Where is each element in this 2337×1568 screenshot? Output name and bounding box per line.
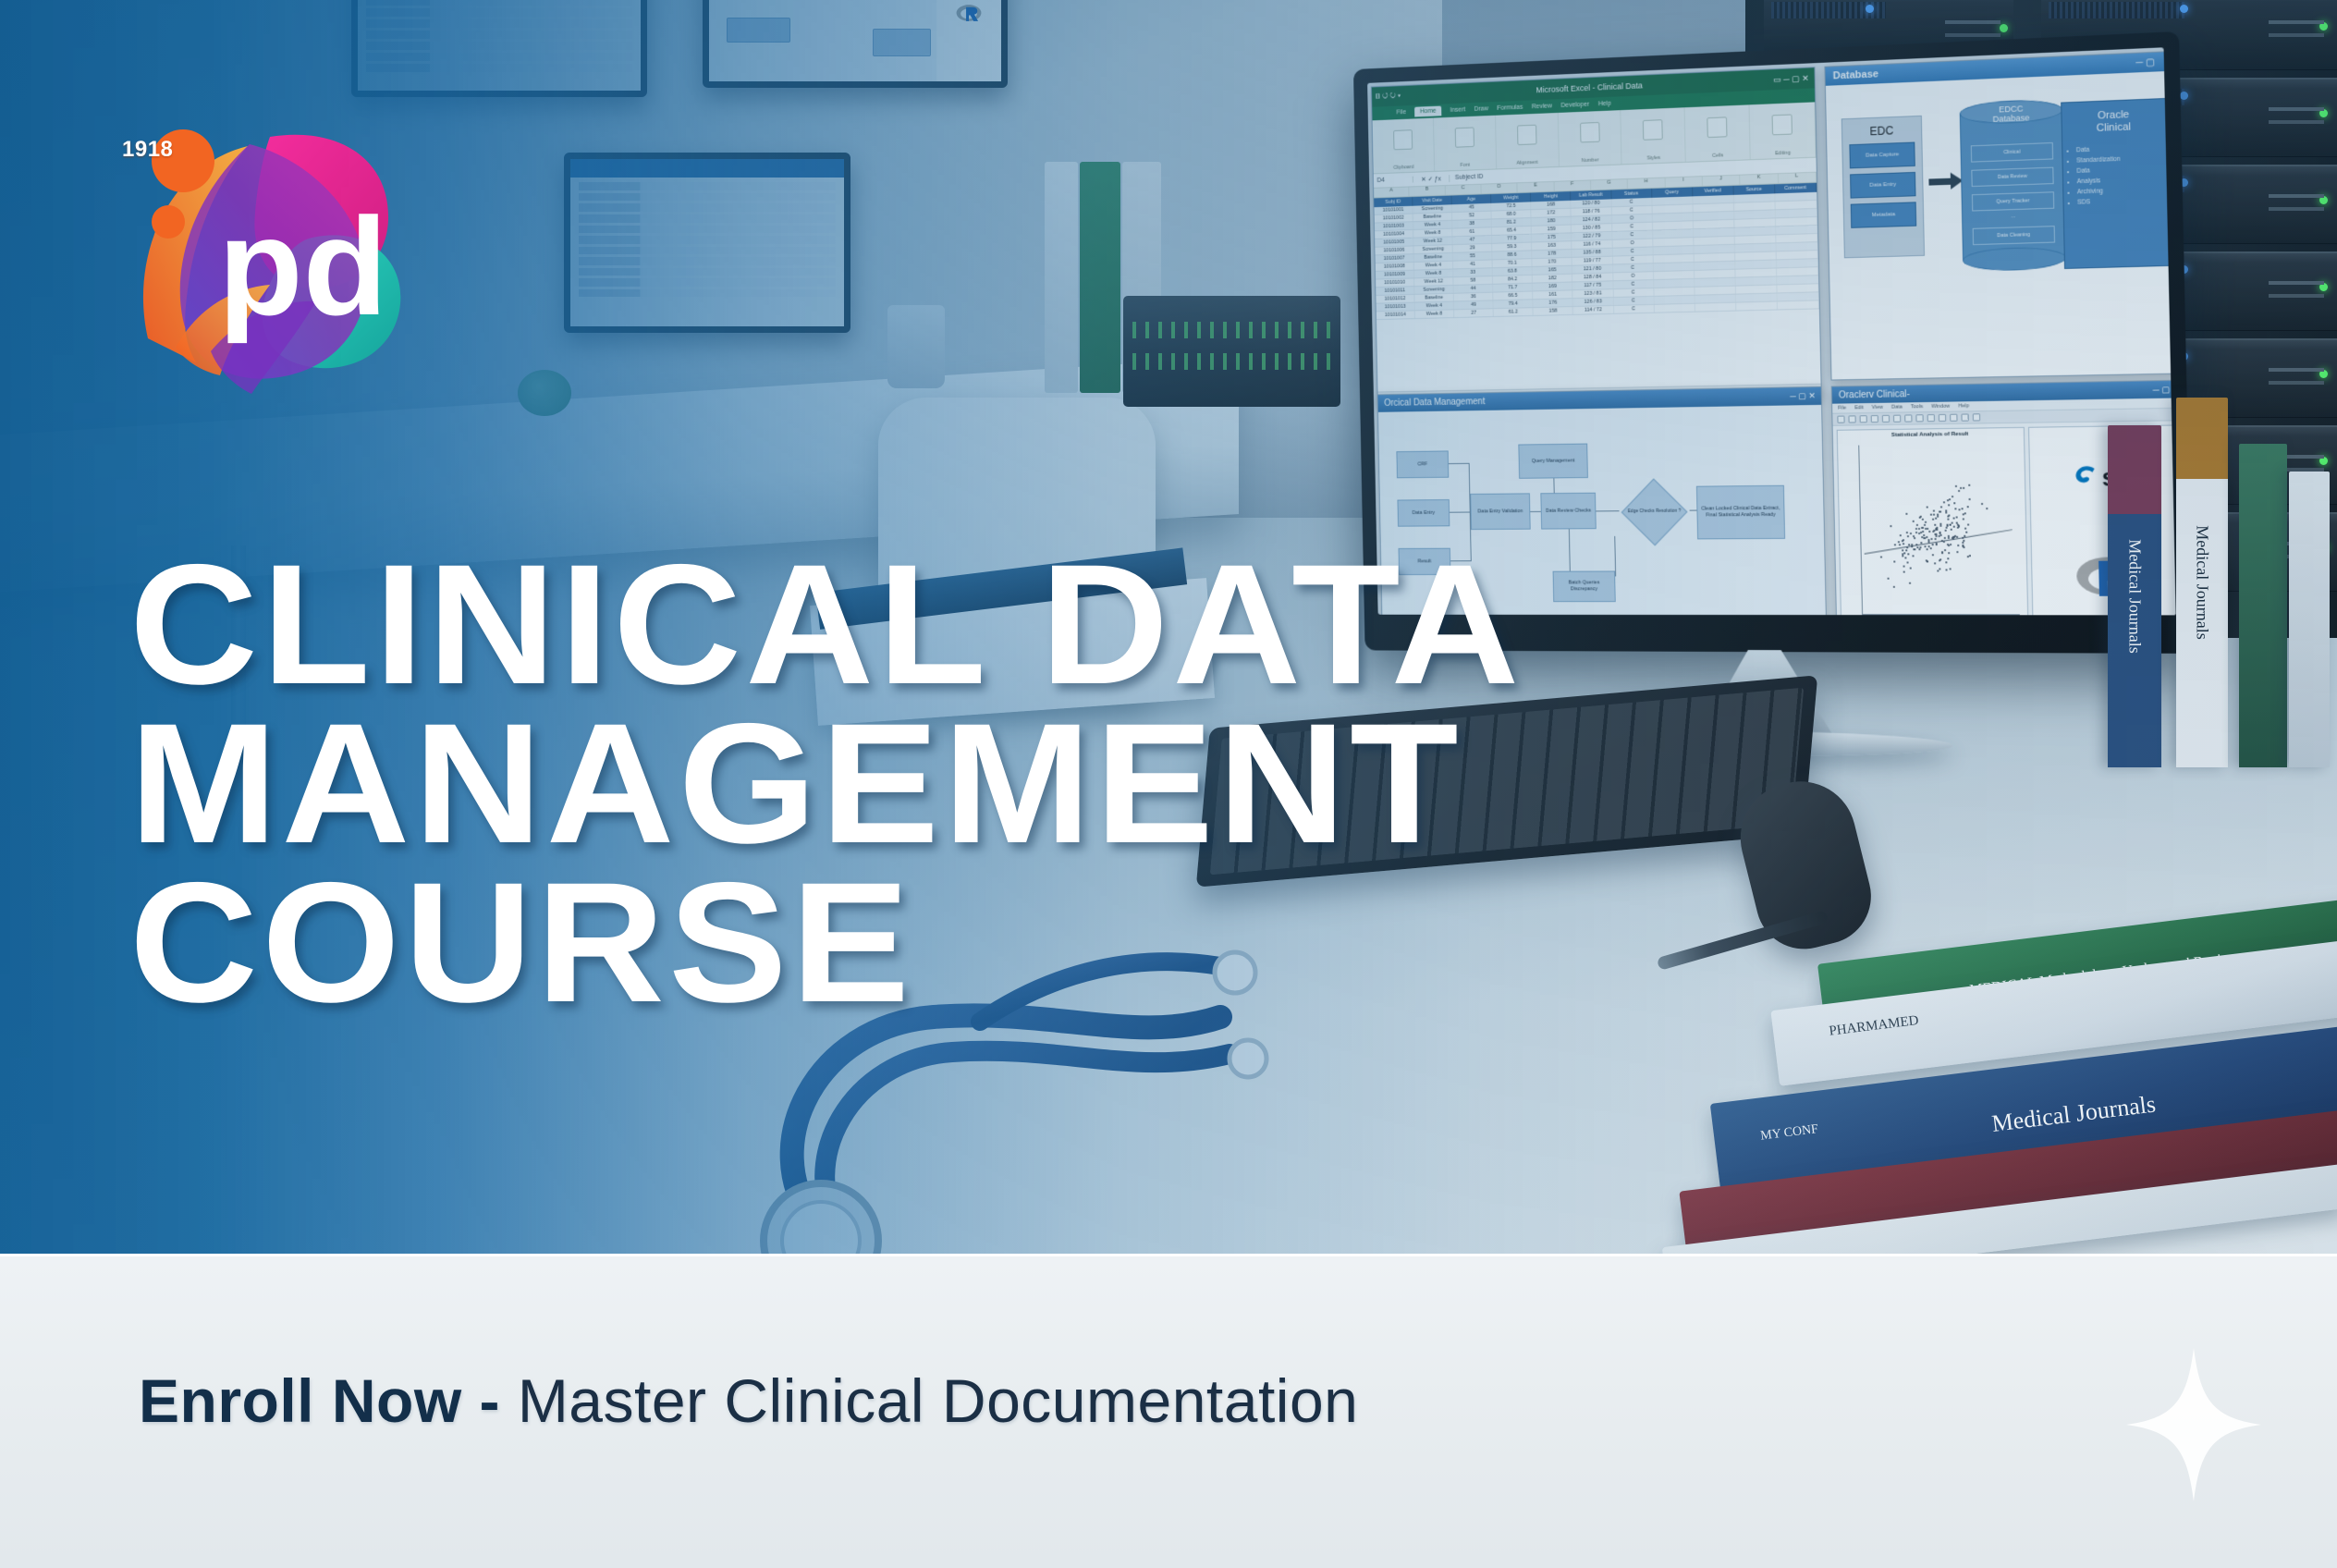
- table-cell[interactable]: C: [1613, 297, 1654, 305]
- scatter-point: [1953, 502, 1955, 504]
- tab-developer[interactable]: Developer: [1560, 102, 1589, 109]
- save-icon[interactable]: [1860, 415, 1867, 423]
- table-cell[interactable]: [1775, 192, 1817, 202]
- scatter-point: [1943, 541, 1945, 543]
- table-cell[interactable]: [1695, 303, 1737, 312]
- scatter-point: [1930, 514, 1932, 516]
- scatter-point: [1952, 496, 1953, 497]
- table-cell[interactable]: C: [1613, 263, 1654, 272]
- table-cell[interactable]: 10101005: [1375, 239, 1413, 247]
- table-cell[interactable]: Week 12: [1413, 237, 1453, 245]
- col-e[interactable]: E: [1518, 182, 1555, 192]
- redo-icon[interactable]: [1915, 414, 1923, 422]
- table-cell[interactable]: Week 12: [1414, 277, 1454, 286]
- table-cell[interactable]: C: [1611, 206, 1652, 214]
- table-cell[interactable]: [1693, 195, 1734, 203]
- scatter-point: [1965, 532, 1967, 533]
- table-cell[interactable]: [1652, 213, 1693, 221]
- scatter-point: [1922, 519, 1924, 521]
- table-cell[interactable]: 116 / 74: [1572, 240, 1613, 249]
- ribbon-group-alignment[interactable]: Alignment: [1496, 113, 1560, 168]
- table-cell[interactable]: [1653, 229, 1694, 238]
- table-cell[interactable]: C: [1613, 288, 1654, 297]
- copy-icon[interactable]: [1882, 415, 1890, 423]
- table-cell[interactable]: Baseline: [1414, 294, 1454, 302]
- scatter-point: [1920, 516, 1922, 518]
- scatter-point: [1944, 537, 1946, 539]
- table-cell[interactable]: [1654, 271, 1695, 279]
- table-cell[interactable]: 10101010: [1376, 278, 1414, 287]
- col-h[interactable]: H: [1628, 178, 1665, 189]
- edc-item: Metadata: [1851, 202, 1916, 228]
- table-cell[interactable]: [1734, 202, 1776, 210]
- table-cell[interactable]: 84.2: [1493, 276, 1533, 284]
- scatter-point: [1987, 508, 1988, 509]
- scatter-point: [1958, 490, 1960, 492]
- zoom-out-icon[interactable]: [1939, 414, 1946, 422]
- table-cell[interactable]: O: [1612, 239, 1653, 247]
- scatter-point: [1925, 521, 1927, 523]
- table-cell[interactable]: [1775, 201, 1817, 210]
- group-label: Cells: [1686, 152, 1750, 160]
- table-cell[interactable]: [1777, 267, 1818, 276]
- undo-icon[interactable]: [1904, 414, 1912, 422]
- table-cell[interactable]: 68.0: [1492, 210, 1532, 218]
- table-cell[interactable]: 52: [1452, 212, 1492, 220]
- table-cell[interactable]: [1695, 262, 1736, 270]
- table-cell[interactable]: 119 / 77: [1572, 257, 1613, 265]
- table-cell[interactable]: Week 8: [1414, 269, 1454, 277]
- table-cell[interactable]: C: [1612, 247, 1653, 255]
- flow-node: Clean Locked Clinical Data Extract, Fina…: [1696, 485, 1785, 540]
- table-cell[interactable]: 128 / 84: [1572, 273, 1613, 281]
- fx-icon[interactable]: ✕ ✓ ƒx: [1413, 175, 1450, 183]
- book-spine: [2239, 444, 2287, 767]
- ribbon-group-number[interactable]: Number: [1558, 110, 1622, 166]
- table-cell[interactable]: [1734, 210, 1776, 218]
- table-cell[interactable]: [1777, 284, 1818, 292]
- table-cell[interactable]: [1776, 234, 1817, 242]
- table-cell[interactable]: [1695, 270, 1736, 278]
- help-icon[interactable]: [1973, 413, 1980, 421]
- scatter-point: [1936, 535, 1938, 537]
- database-window[interactable]: Database ─ ▢ ✕ EDC Data Capture Data Ent…: [1824, 51, 2175, 381]
- table-cell[interactable]: [1694, 245, 1735, 253]
- table-cell[interactable]: 70.1: [1493, 259, 1533, 267]
- table-cell[interactable]: 176: [1534, 299, 1573, 307]
- chart-title: Statistical Analysis of Result: [1838, 431, 2024, 439]
- table-cell[interactable]: C: [1612, 255, 1653, 263]
- scatter-point: [1936, 543, 1938, 545]
- col-c[interactable]: C: [1445, 185, 1481, 195]
- scatter-point: [1949, 524, 1951, 526]
- scatter-point: [1923, 534, 1925, 536]
- table-cell[interactable]: 10101008: [1376, 263, 1414, 271]
- table-cell[interactable]: [1654, 288, 1695, 296]
- table-cell[interactable]: 120 / 80: [1572, 199, 1612, 207]
- table-cell[interactable]: [1653, 238, 1694, 246]
- col-b[interactable]: B: [1410, 186, 1446, 196]
- table-cell[interactable]: [1653, 254, 1694, 263]
- col-k[interactable]: K: [1740, 174, 1778, 184]
- table-cell[interactable]: 71.7: [1493, 284, 1533, 292]
- table-cell[interactable]: 169: [1533, 282, 1572, 290]
- ribbon-group-font[interactable]: Font: [1434, 116, 1497, 171]
- edc-source-box: EDC Data Capture Data Entry Metadata: [1841, 116, 1925, 258]
- paste-icon[interactable]: [1893, 415, 1901, 423]
- scatter-point: [1955, 485, 1957, 487]
- menu-edit[interactable]: Edit: [1854, 405, 1864, 410]
- group-label: Styles: [1622, 154, 1685, 162]
- table-cell[interactable]: 33: [1453, 268, 1493, 276]
- tab-review[interactable]: Review: [1532, 103, 1552, 110]
- table-cell[interactable]: Week 4: [1415, 301, 1455, 310]
- table-cell[interactable]: 29: [1453, 244, 1493, 252]
- table-cell[interactable]: 135 / 88: [1572, 249, 1613, 257]
- scatter-point: [1947, 499, 1949, 501]
- promo-banner: sas: [0, 0, 2337, 1568]
- ribbon-group-clipboard[interactable]: Clipboard: [1373, 118, 1435, 174]
- spreadsheet-rows[interactable]: 10101001Screening4572.5168120 / 80C10101…: [1374, 192, 1818, 320]
- scatter-point: [1945, 509, 1947, 511]
- cta-light: Master Clinical Documentation: [518, 1366, 1359, 1435]
- table-cell[interactable]: [1776, 217, 1817, 226]
- ribbon-group-editing[interactable]: Editing: [1750, 102, 1817, 159]
- cylinder-item: Data Review: [1971, 167, 2053, 187]
- table-cell[interactable]: 123 / 81: [1573, 289, 1614, 298]
- ribbon-group-styles[interactable]: Styles: [1621, 107, 1686, 164]
- font-icon: [1455, 127, 1474, 147]
- table-cell[interactable]: 77.9: [1492, 235, 1532, 243]
- table-cell[interactable]: 41: [1453, 260, 1493, 268]
- table-cell[interactable]: [1734, 193, 1776, 202]
- table-cell[interactable]: [1654, 279, 1695, 288]
- table-cell[interactable]: 36: [1454, 293, 1494, 301]
- table-cell[interactable]: [1694, 253, 1735, 262]
- scatter-point: [1906, 513, 1908, 515]
- scatter-point: [1952, 517, 1954, 519]
- table-cell[interactable]: Week 4: [1413, 221, 1453, 229]
- filter-icon[interactable]: [1961, 413, 1968, 421]
- scatter-point: [1939, 532, 1940, 533]
- menu-view[interactable]: View: [1872, 405, 1883, 410]
- table-cell[interactable]: 45: [1452, 203, 1492, 212]
- excel-window[interactable]: ⌷ ↺ ↻ ▾ Microsoft Excel - Clinical Data …: [1371, 67, 1822, 405]
- table-cell[interactable]: [1654, 304, 1695, 312]
- table-cell[interactable]: [1778, 300, 1819, 309]
- table-cell[interactable]: [1735, 243, 1777, 251]
- table-cell[interactable]: [1653, 246, 1694, 254]
- scatter-point: [1922, 530, 1924, 532]
- table-cell[interactable]: C: [1612, 223, 1653, 231]
- table-cell[interactable]: [1695, 287, 1736, 295]
- table-cell[interactable]: C: [1611, 198, 1652, 206]
- menu-help[interactable]: Help: [1958, 403, 1969, 409]
- table-cell[interactable]: 44: [1454, 285, 1494, 293]
- scatter-point: [1931, 538, 1933, 540]
- table-cell[interactable]: [1736, 285, 1778, 293]
- table-cell[interactable]: [1653, 221, 1694, 229]
- table-cell[interactable]: 10101007: [1375, 254, 1413, 263]
- menu-window[interactable]: Window: [1931, 404, 1950, 410]
- table-cell[interactable]: [1736, 293, 1778, 301]
- table-cell[interactable]: 117 / 75: [1573, 281, 1614, 289]
- table-cell[interactable]: 168: [1531, 201, 1571, 209]
- table-cell[interactable]: [1734, 218, 1776, 227]
- table-cell[interactable]: 58: [1453, 276, 1493, 285]
- sparkle-glyph: [2124, 1346, 2263, 1503]
- table-cell[interactable]: 81.2: [1492, 218, 1532, 227]
- scatter-point: [1957, 527, 1959, 529]
- alignment-icon: [1517, 125, 1536, 145]
- scatter-point: [1957, 525, 1959, 527]
- quick-access-toolbar[interactable]: ⌷ ↺ ↻ ▾: [1377, 92, 1401, 102]
- table-cell[interactable]: C: [1614, 305, 1655, 313]
- table-cell[interactable]: [1735, 251, 1777, 260]
- scatter-point: [1927, 528, 1929, 530]
- table-cell[interactable]: 130 / 85: [1572, 224, 1612, 232]
- table-cell[interactable]: 63.8: [1493, 267, 1533, 276]
- col-f[interactable]: F: [1554, 180, 1591, 190]
- table-cell[interactable]: [1776, 209, 1817, 217]
- col-j[interactable]: J: [1703, 176, 1741, 186]
- col-i[interactable]: I: [1665, 177, 1703, 187]
- scatter-point: [1910, 533, 1912, 534]
- table-cell[interactable]: [1652, 196, 1693, 204]
- table-cell[interactable]: 114 / 72: [1573, 306, 1614, 314]
- table-cell[interactable]: [1654, 296, 1695, 304]
- table-cell[interactable]: Screening: [1414, 286, 1454, 294]
- scatter-point: [1915, 528, 1917, 530]
- table-cell[interactable]: 124 / 82: [1572, 215, 1612, 224]
- tab-formulas[interactable]: Formulas: [1497, 104, 1523, 112]
- table-cell[interactable]: 27: [1454, 309, 1494, 317]
- scatter-point: [1920, 542, 1922, 544]
- database-title-text: Database: [1833, 68, 1879, 81]
- flow-node: Data Entry Validation: [1470, 493, 1530, 530]
- table-cell[interactable]: 122 / 79: [1572, 232, 1612, 240]
- scatter-point: [1924, 523, 1926, 525]
- col-a[interactable]: A: [1374, 187, 1410, 197]
- table-cell[interactable]: [1652, 204, 1693, 213]
- table-cell[interactable]: 61.2: [1494, 308, 1534, 316]
- headline-line-3: COURSE: [129, 864, 2148, 1023]
- table-cell[interactable]: [1693, 212, 1734, 220]
- table-cell[interactable]: [1735, 276, 1777, 285]
- table-cell[interactable]: [1776, 242, 1817, 251]
- pen-cup: [887, 305, 945, 388]
- table-cell[interactable]: O: [1613, 272, 1654, 280]
- tab-help[interactable]: Help: [1598, 101, 1611, 107]
- table-cell[interactable]: 10101003: [1375, 222, 1413, 230]
- table-cell[interactable]: [1735, 268, 1777, 276]
- tab-file[interactable]: File: [1396, 109, 1406, 116]
- window-controls[interactable]: ─ ▢ ✕: [1790, 391, 1816, 402]
- table-cell[interactable]: O: [1612, 214, 1653, 223]
- window-controls[interactable]: ─ ▢ ✕: [2135, 56, 2172, 68]
- table-cell[interactable]: Screening: [1413, 245, 1453, 253]
- formula-value[interactable]: Subject ID: [1450, 174, 1483, 181]
- table-cell[interactable]: 175: [1532, 233, 1572, 241]
- col-l[interactable]: L: [1778, 173, 1816, 183]
- table-cell[interactable]: 172: [1532, 209, 1572, 217]
- sparkle-icon: [2124, 1346, 2263, 1503]
- table-cell[interactable]: [1734, 227, 1776, 235]
- table-cell[interactable]: 158: [1534, 307, 1573, 315]
- table-cell[interactable]: 10101009: [1376, 271, 1414, 279]
- scatter-point: [1946, 524, 1948, 526]
- table-cell[interactable]: 10101013: [1377, 303, 1415, 312]
- wall-monitor-desk-spreadsheet: [564, 153, 850, 333]
- table-cell[interactable]: 10101012: [1376, 295, 1414, 303]
- table-cell[interactable]: 178: [1533, 250, 1572, 258]
- excel-title-text: Microsoft Excel - Clinical Data: [1536, 80, 1643, 94]
- scatter-point: [1955, 508, 1957, 509]
- window-controls[interactable]: ▭ ─ ▢ ✕: [1773, 73, 1809, 85]
- zoom-in-icon[interactable]: [1927, 414, 1935, 422]
- scatter-point: [1967, 506, 1969, 508]
- table-cell[interactable]: 38: [1452, 219, 1492, 227]
- scatter-point: [1948, 505, 1950, 507]
- table-cell[interactable]: 121 / 80: [1572, 264, 1613, 273]
- table-cell[interactable]: 72.5: [1492, 202, 1532, 210]
- odm-title-text: Orcical Data Management: [1384, 397, 1485, 409]
- table-cell[interactable]: 61: [1452, 227, 1492, 236]
- scatter-point: [1915, 532, 1917, 533]
- number-icon: [1580, 122, 1600, 143]
- table-cell[interactable]: 88.6: [1493, 251, 1533, 259]
- tab-insert[interactable]: Insert: [1450, 106, 1466, 114]
- table-cell[interactable]: 170: [1533, 258, 1572, 266]
- table-cell[interactable]: 118 / 76: [1572, 207, 1612, 215]
- table-cell[interactable]: 161: [1533, 290, 1572, 299]
- table-cell[interactable]: [1694, 220, 1735, 228]
- table-cell[interactable]: 10101014: [1377, 311, 1415, 319]
- table-cell[interactable]: 47: [1453, 236, 1493, 244]
- table-cell[interactable]: C: [1613, 280, 1654, 288]
- table-cell[interactable]: 66.5: [1493, 291, 1533, 300]
- scatter-point: [1949, 514, 1951, 516]
- scatter-point: [1959, 508, 1961, 510]
- table-cell[interactable]: 65.4: [1492, 227, 1532, 235]
- oc-title-text: Oraclerv Clinical-: [1839, 389, 1910, 400]
- group-label: Font: [1435, 162, 1496, 169]
- headline-line-1: CLINICAL DATA: [129, 545, 2148, 704]
- table-cell[interactable]: [1695, 295, 1736, 303]
- tab-draw[interactable]: Draw: [1474, 105, 1489, 112]
- table-cell[interactable]: 126 / 83: [1573, 298, 1614, 306]
- table-cell[interactable]: 165: [1533, 266, 1572, 275]
- menu-tools[interactable]: Tools: [1911, 404, 1923, 410]
- table-cell[interactable]: 79.4: [1494, 300, 1534, 308]
- page-title: CLINICAL DATA MANAGEMENT COURSE: [129, 545, 2071, 1023]
- table-cell[interactable]: 59.3: [1492, 242, 1532, 251]
- scatter-point: [1940, 507, 1942, 508]
- r-logo-icon: [956, 3, 982, 22]
- table-cell[interactable]: 10101004: [1375, 230, 1413, 239]
- scatter-point: [1945, 530, 1947, 532]
- scatter-point: [1964, 528, 1966, 530]
- col-g[interactable]: G: [1591, 179, 1628, 190]
- table-cell[interactable]: [1777, 259, 1818, 267]
- cells-icon: [1707, 116, 1728, 138]
- table-cell[interactable]: [1778, 292, 1819, 300]
- print-icon[interactable]: [1871, 415, 1878, 423]
- flow-node: Data Entry: [1397, 499, 1450, 527]
- table-cell[interactable]: 159: [1532, 225, 1572, 233]
- year-badge: 1918: [122, 137, 173, 163]
- table-cell[interactable]: Week 4: [1414, 262, 1454, 270]
- table-cell[interactable]: [1653, 263, 1694, 271]
- scatter-point: [1898, 541, 1900, 543]
- table-cell[interactable]: 55: [1453, 252, 1493, 261]
- group-label: Editing: [1751, 150, 1816, 158]
- scatter-point: [1917, 528, 1919, 530]
- name-box[interactable]: D4: [1374, 177, 1413, 184]
- table-cell[interactable]: [1694, 228, 1735, 237]
- group-label: Clipboard: [1374, 164, 1434, 171]
- ribbon-group-cells[interactable]: Cells: [1685, 104, 1751, 162]
- search-icon: [1772, 114, 1793, 135]
- table-cell[interactable]: [1694, 237, 1735, 245]
- table-cell[interactable]: 49: [1454, 300, 1494, 309]
- table-cell[interactable]: [1695, 278, 1736, 287]
- table-cell[interactable]: C: [1612, 231, 1653, 239]
- table-cell[interactable]: Baseline: [1413, 213, 1453, 221]
- table-cell[interactable]: Week 8: [1415, 310, 1455, 318]
- table-cell[interactable]: [1777, 276, 1818, 284]
- table-cell[interactable]: [1735, 260, 1777, 268]
- table-cell[interactable]: 10101002: [1375, 214, 1413, 222]
- table-cell[interactable]: Baseline: [1414, 253, 1454, 262]
- table-cell[interactable]: [1736, 301, 1778, 310]
- menu-file[interactable]: File: [1838, 405, 1846, 410]
- chart-icon[interactable]: [1950, 414, 1957, 422]
- new-icon[interactable]: [1837, 416, 1844, 423]
- table-cell[interactable]: Screening: [1413, 204, 1453, 213]
- tab-home[interactable]: Home: [1414, 106, 1441, 117]
- table-cell[interactable]: 10101001: [1374, 206, 1413, 214]
- table-cell[interactable]: Week 8: [1413, 229, 1453, 238]
- table-cell[interactable]: [1777, 251, 1818, 259]
- scatter-point: [1934, 524, 1936, 526]
- table-cell[interactable]: 163: [1532, 241, 1572, 250]
- scatter-point: [1939, 534, 1941, 536]
- table-cell[interactable]: 10101011: [1376, 287, 1414, 295]
- scatter-point: [1956, 516, 1958, 518]
- col-d[interactable]: D: [1481, 183, 1517, 193]
- group-label: Number: [1559, 157, 1621, 165]
- table-cell[interactable]: 10101006: [1375, 246, 1413, 254]
- decision-diamond: Edge Checks Resolution ?: [1619, 488, 1690, 536]
- scatter-point: [1906, 532, 1908, 533]
- edcc-database-cylinder: EDCC Database Clinical Data Review Query…: [1959, 98, 2066, 272]
- table-cell[interactable]: [1776, 226, 1817, 234]
- table-cell[interactable]: 180: [1532, 217, 1572, 226]
- scatter-point: [1913, 521, 1915, 522]
- table-cell[interactable]: 182: [1533, 275, 1572, 283]
- table-cell[interactable]: [1734, 235, 1776, 243]
- scatter-point: [1960, 487, 1962, 489]
- scatter-point: [1947, 518, 1949, 520]
- open-icon[interactable]: [1848, 415, 1855, 423]
- table-cell[interactable]: [1693, 203, 1734, 212]
- scatter-point: [1918, 533, 1920, 534]
- desk-plant: [518, 370, 571, 416]
- menu-data[interactable]: Data: [1891, 404, 1903, 410]
- scatter-point: [1926, 536, 1927, 538]
- scatter-point: [1946, 527, 1948, 529]
